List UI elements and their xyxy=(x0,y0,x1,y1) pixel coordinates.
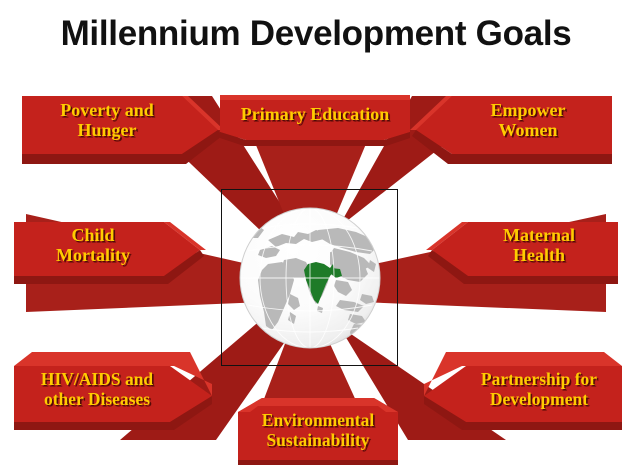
goal-banner-hiv-aids[interactable]: HIV/AIDS and other Diseases xyxy=(14,344,228,432)
partnership-development-banner-shape xyxy=(408,344,622,432)
hiv-aids-banner-shape xyxy=(14,344,228,432)
goal-banner-empower-women[interactable]: Empower Women xyxy=(400,92,612,176)
maternal-health-banner-shape xyxy=(414,218,618,296)
goal-banner-partnership-development[interactable]: Partnership for Development xyxy=(408,344,622,432)
goal-banner-environmental-sustainability[interactable]: Environmental Sustainability xyxy=(228,392,408,471)
globe-frame-border xyxy=(221,189,398,366)
environmental-sustainability-banner-shape xyxy=(228,392,408,471)
millennium-development-goals-slide: Millennium Development Goals xyxy=(0,0,632,471)
empower-women-banner-shape xyxy=(400,92,612,176)
goal-banner-poverty-hunger[interactable]: Poverty and Hunger xyxy=(22,92,232,176)
poverty-hunger-banner-shape xyxy=(22,92,232,176)
child-mortality-banner-shape xyxy=(14,218,218,296)
primary-education-banner-shape xyxy=(212,92,418,148)
goal-banner-primary-education[interactable]: Primary Education xyxy=(212,92,418,148)
goal-banner-maternal-health[interactable]: Maternal Health xyxy=(414,218,618,296)
goal-banner-child-mortality[interactable]: Child Mortality xyxy=(14,218,218,296)
